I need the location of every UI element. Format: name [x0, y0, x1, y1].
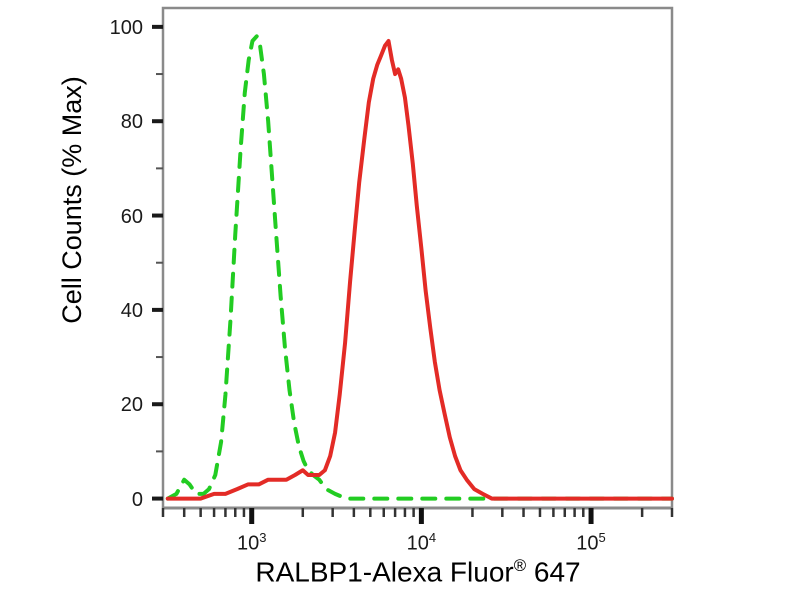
curve-control [168, 36, 672, 498]
plot-frame [163, 8, 672, 508]
flow-cytometry-histogram: Cell Counts (% Max) RALBP1-Alexa Fluor® … [0, 0, 800, 600]
y-tick-label: 0 [95, 489, 143, 512]
y-tick-label: 40 [95, 300, 143, 323]
x-tick-label: 103 [237, 530, 266, 556]
y-tick-label: 60 [95, 206, 143, 229]
y-tick-label: 20 [95, 394, 143, 417]
x-tick-label: 105 [576, 530, 605, 556]
y-tick-label: 100 [95, 17, 143, 40]
x-tick-label: 104 [407, 530, 436, 556]
y-tick-label: 80 [95, 111, 143, 134]
